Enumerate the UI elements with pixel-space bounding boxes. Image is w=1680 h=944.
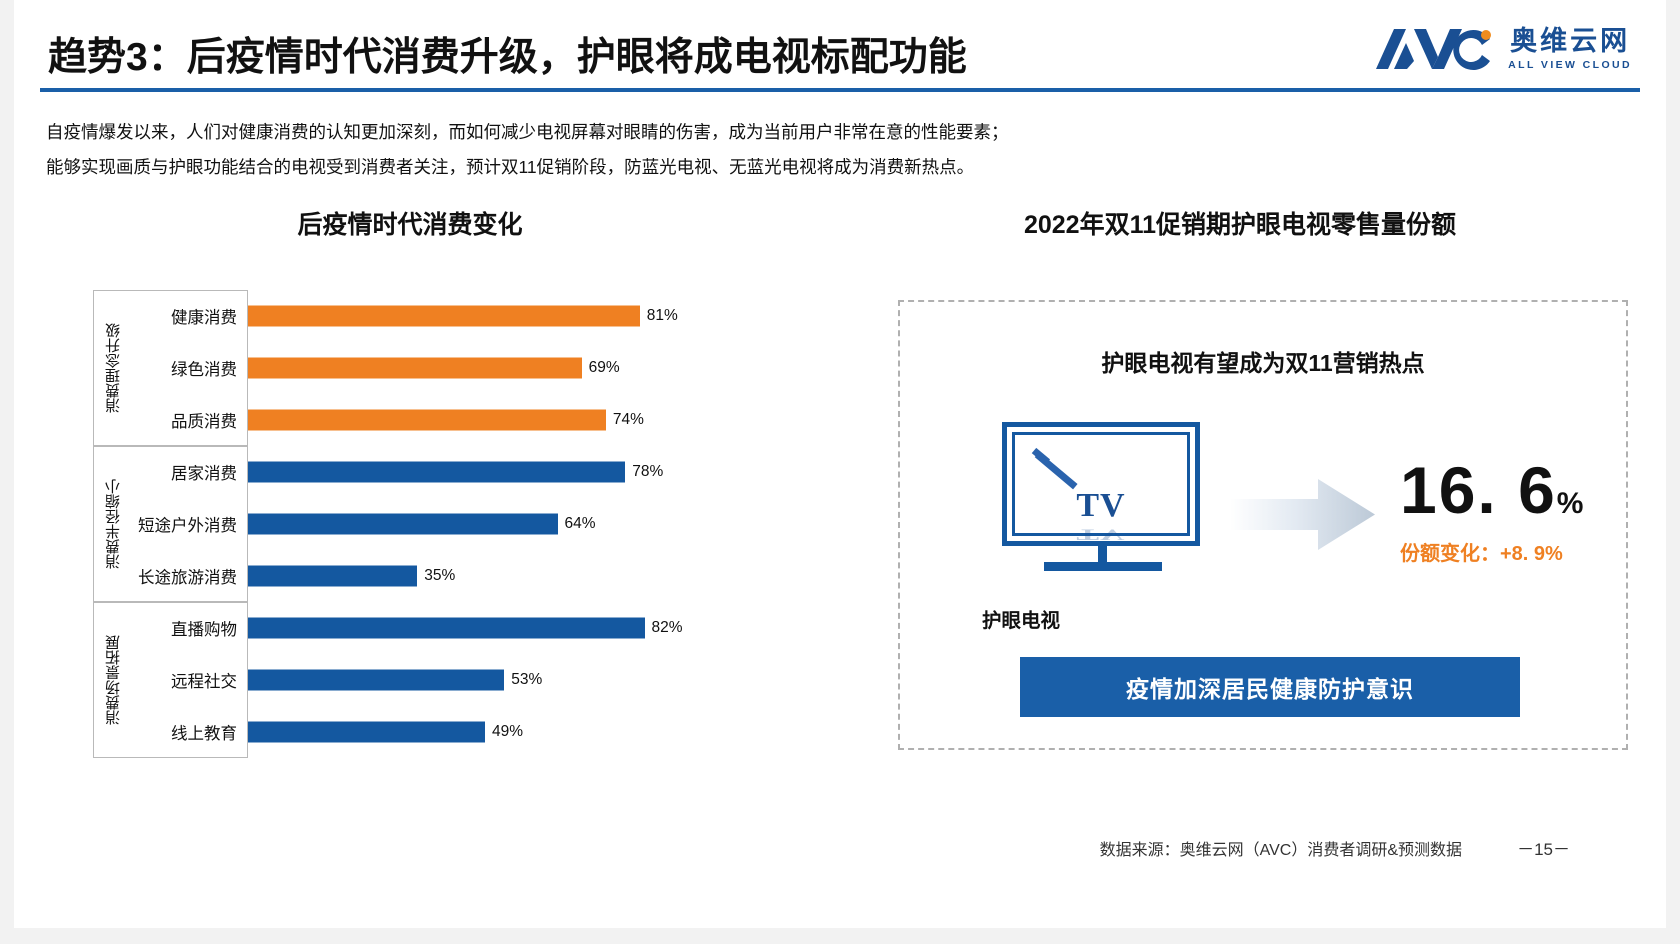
chart-bar-row: 短途户外消费64% — [93, 498, 805, 550]
chart-bar — [248, 618, 645, 639]
right-chart-title: 2022年双11促销期护眼电视零售量份额 — [860, 205, 1620, 241]
chart-bar-track: 49% — [248, 706, 805, 758]
chart-value-label: 49% — [485, 723, 523, 741]
chart-bar — [248, 566, 417, 587]
share-change-label: 份额变化：+8. 9% — [1400, 537, 1660, 566]
chart-category-label: 远程社交 — [93, 668, 248, 692]
logo-cn-name: 奥维云网 — [1510, 28, 1630, 55]
chart-bar-row: 直播购物82% — [93, 602, 805, 654]
chart-bar-track: 69% — [248, 342, 805, 394]
intro-paragraph: 自疫情爆发以来，人们对健康消费的认知更加深刻，而如何减少电视屏幕对眼睛的伤害，成… — [46, 115, 1246, 185]
chart-category-label: 长途旅游消费 — [93, 564, 248, 588]
tv-screen-text: TV — [1015, 487, 1187, 525]
chart-bar-track: 35% — [248, 550, 805, 602]
chart-bar-track: 78% — [248, 446, 805, 498]
chart-value-label: 64% — [558, 515, 596, 533]
chart-category-label: 绿色消费 — [93, 356, 248, 380]
chart-category-label: 居家消费 — [93, 460, 248, 484]
chart-bar-row: 健康消费81% — [93, 290, 805, 342]
data-source-note: 数据来源：奥维云网（AVC）消费者调研&预测数据 — [1100, 836, 1462, 860]
tv-illustration: TV TV — [980, 422, 1210, 592]
slide-canvas: 趋势3：后疫情时代消费升级，护眼将成电视标配功能 奥维云网 ALL V — [0, 0, 1680, 944]
right-chart-panel: 2022年双11促销期护眼电视零售量份额 护眼电视有望成为双11营销热点 TV … — [860, 205, 1640, 805]
share-number: 16. 6 — [1400, 453, 1557, 527]
right-arrow-icon — [1230, 477, 1375, 552]
chart-bar-row: 线上教育49% — [93, 706, 805, 758]
chart-bar-row: 绿色消费69% — [93, 342, 805, 394]
chart-bar — [248, 410, 606, 431]
tv-screen-text-reflection: TV — [1015, 525, 1187, 542]
insight-banner: 疫情加深居民健康防护意识 — [1020, 657, 1520, 717]
avc-logo-text: 奥维云网 ALL VIEW CLOUD — [1508, 28, 1632, 71]
tv-stand-base-icon — [1044, 562, 1162, 571]
share-value: 16. 6% — [1400, 452, 1630, 528]
slide-left-margin — [0, 0, 14, 944]
slide-header: 趋势3：后疫情时代消费升级，护眼将成电视标配功能 奥维云网 ALL V — [0, 0, 1680, 96]
intro-line-1: 自疫情爆发以来，人们对健康消费的认知更加深刻，而如何减少电视屏幕对眼睛的伤害，成… — [46, 115, 1246, 150]
chart-bar — [248, 358, 582, 379]
chart-value-label: 78% — [625, 463, 663, 481]
slide-bottom-margin — [0, 928, 1680, 944]
horizontal-bar-chart: 消费理念升级消费半径缩小消费场景拓展健康消费81%绿色消费69%品质消费74%居… — [65, 290, 805, 770]
chart-bar — [248, 670, 504, 691]
chart-value-label: 74% — [606, 411, 644, 429]
intro-line-2: 能够实现画质与护眼功能结合的电视受到消费者关注，预计双11促销阶段，防蓝光电视、… — [46, 150, 1246, 185]
left-chart-panel: 后疫情时代消费变化 消费理念升级消费半径缩小消费场景拓展健康消费81%绿色消费6… — [40, 205, 830, 805]
chart-value-label: 53% — [504, 671, 542, 689]
chart-category-label: 线上教育 — [93, 720, 248, 744]
callout-headline: 护眼电视有望成为双11营销热点 — [900, 344, 1626, 378]
chart-bar-track: 81% — [248, 290, 805, 342]
chart-value-label: 82% — [645, 619, 683, 637]
chart-bar — [248, 306, 640, 327]
chart-bar — [248, 462, 625, 483]
chart-bar-row: 居家消费78% — [93, 446, 805, 498]
chart-bar-track: 53% — [248, 654, 805, 706]
logo-en-name: ALL VIEW CLOUD — [1508, 59, 1632, 71]
tv-screen-inner-icon: TV TV — [1012, 432, 1190, 536]
chart-category-label: 健康消费 — [93, 304, 248, 328]
chart-category-label: 短途户外消费 — [93, 512, 248, 536]
avc-wordmark-icon — [1374, 25, 1494, 73]
chart-bar — [248, 514, 558, 535]
dashed-callout-box: 护眼电视有望成为双11营销热点 TV TV 护眼电视 — [898, 300, 1628, 750]
page-number: －15－ — [1517, 835, 1570, 860]
chart-bar — [248, 722, 485, 743]
slide-right-margin — [1666, 0, 1680, 944]
tv-stand-neck-icon — [1098, 546, 1107, 562]
chart-bar-track: 82% — [248, 602, 805, 654]
chart-bar-track: 74% — [248, 394, 805, 446]
chart-bar-row: 品质消费74% — [93, 394, 805, 446]
chart-category-label: 直播购物 — [93, 616, 248, 640]
title-divider — [40, 88, 1640, 92]
chart-value-label: 35% — [417, 567, 455, 585]
chart-bar-track: 64% — [248, 498, 805, 550]
chart-bar-row: 长途旅游消费35% — [93, 550, 805, 602]
share-percent-sign: % — [1557, 487, 1586, 520]
page-title: 趋势3：后疫情时代消费升级，护眼将成电视标配功能 — [48, 26, 967, 82]
chart-category-label: 品质消费 — [93, 408, 248, 432]
chart-value-label: 69% — [582, 359, 620, 377]
chart-value-label: 81% — [640, 307, 678, 325]
avc-logo: 奥维云网 ALL VIEW CLOUD — [1374, 20, 1632, 78]
left-chart-title: 后疫情时代消费变化 — [40, 205, 780, 241]
tv-screen-outer-icon: TV TV — [1002, 422, 1200, 546]
chart-bar-row: 远程社交53% — [93, 654, 805, 706]
tv-caption: 护眼电视 — [982, 604, 1212, 633]
